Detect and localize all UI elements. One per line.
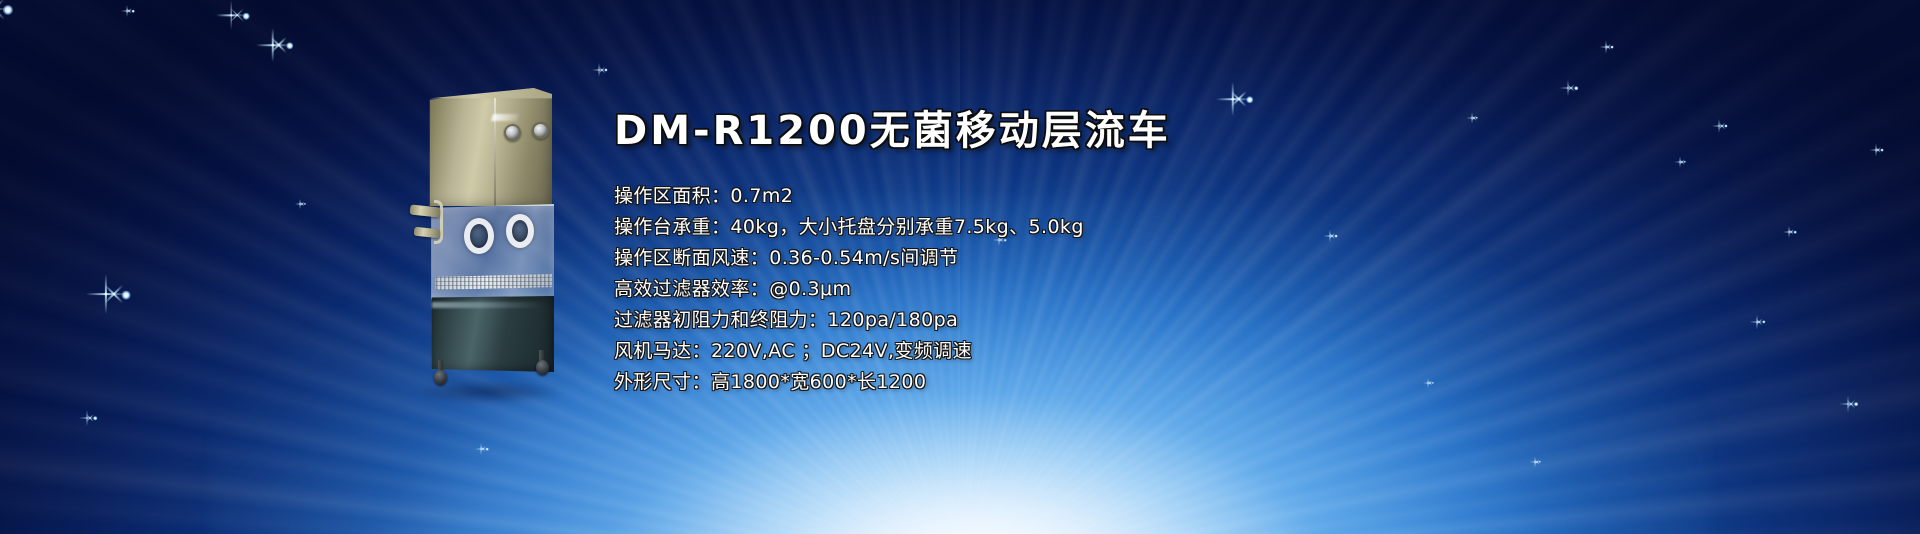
spec-line: 操作区断面风速：0.36-0.54m/s间调节 xyxy=(614,243,1374,274)
product-hood-highlight xyxy=(491,114,519,121)
product-hood xyxy=(422,88,552,206)
product-title: DM-R1200无菌移动层流车 xyxy=(614,110,1374,153)
product-banner: DM-R1200无菌移动层流车 操作区面积：0.7m2操作台承重：40kg，大小… xyxy=(0,0,1920,534)
spec-line: 外形尺寸：高1800*宽600*长1200 xyxy=(614,367,1374,398)
spec-line: 操作台承重：40kg，大小托盘分别承重7.5kg、5.0kg xyxy=(614,212,1374,243)
spec-line: 风机马达：220V,AC ；DC24V,变频调速 xyxy=(614,336,1374,367)
spec-list: 操作区面积：0.7m2操作台承重：40kg，大小托盘分别承重7.5kg、5.0k… xyxy=(614,181,1374,398)
caster-wheel xyxy=(536,360,549,375)
glove-port xyxy=(506,214,534,248)
copy-block: DM-R1200无菌移动层流车 操作区面积：0.7m2操作台承重：40kg，大小… xyxy=(614,110,1374,398)
pressure-gauge-icon xyxy=(532,122,549,139)
product-side-handle xyxy=(414,227,441,239)
product-image xyxy=(408,88,568,400)
product-side-handle xyxy=(410,204,441,217)
pressure-gauge-icon xyxy=(504,124,521,141)
caster-wheel xyxy=(434,370,447,385)
spec-line: 高效过滤器效率：@0.3μm xyxy=(614,274,1374,305)
glove-port xyxy=(464,218,494,254)
cabinet-highlight xyxy=(432,302,542,308)
spec-line: 操作区面积：0.7m2 xyxy=(614,181,1374,212)
spec-line: 过滤器初阻力和终阻力：120pa/180pa xyxy=(614,305,1374,336)
